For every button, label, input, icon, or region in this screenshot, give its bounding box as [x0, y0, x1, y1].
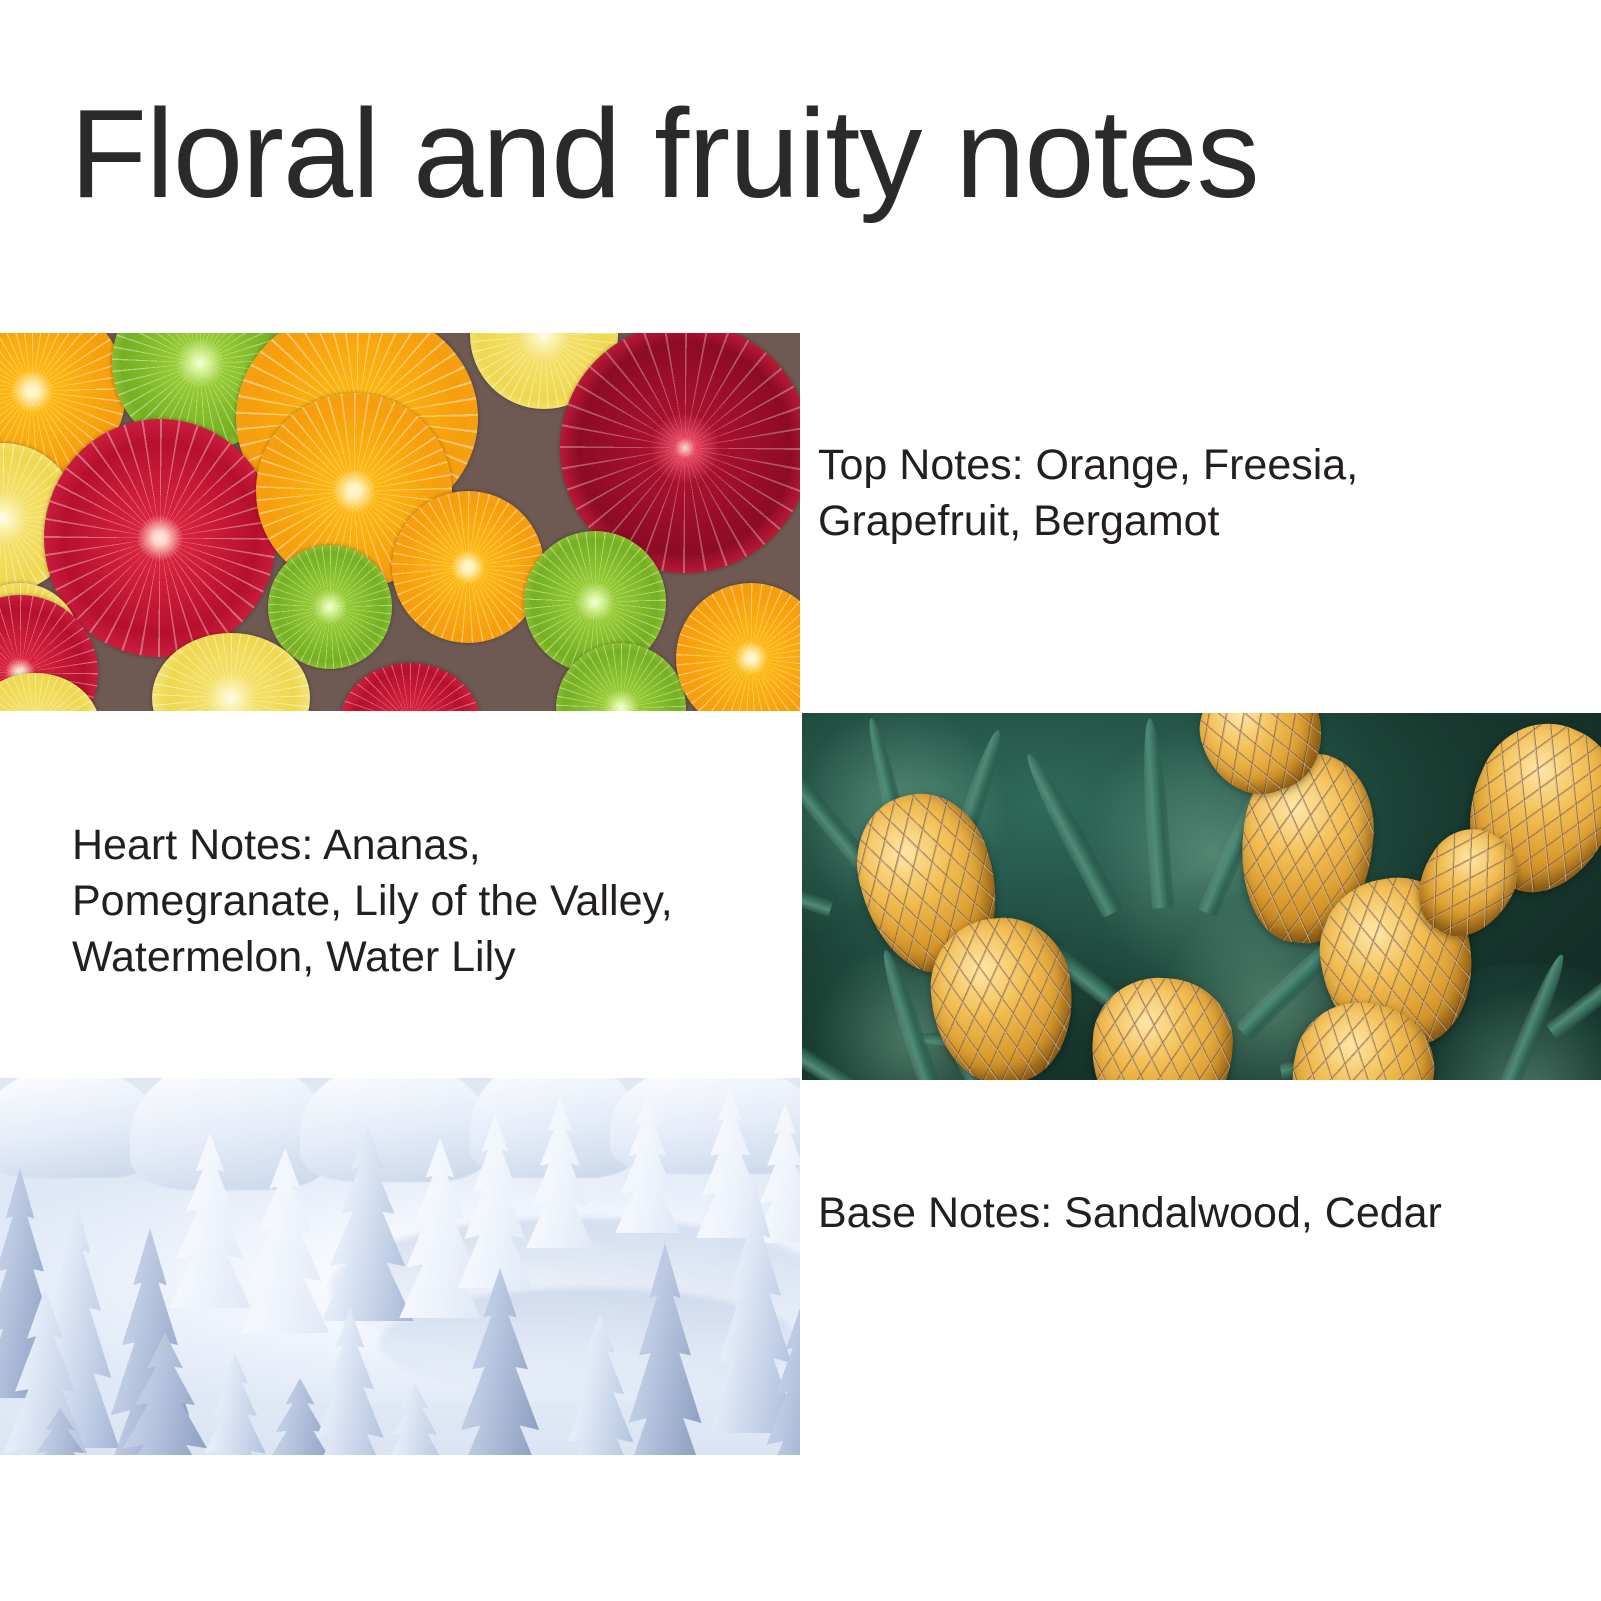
citrus-slices-photo: [0, 333, 800, 711]
pineapples-photo: [802, 713, 1601, 1080]
page-title: Floral and fruity notes: [70, 88, 1259, 220]
base-notes-label: Base Notes: Sandalwood, Cedar: [818, 1186, 1558, 1242]
fruit-slice-lime: [268, 545, 392, 669]
fruit-slice-orange: [392, 491, 544, 643]
top-notes-label: Top Notes: Orange, Freesia, Grapefruit, …: [818, 438, 1538, 550]
slide-canvas: Floral and fruity notes Top Notes: Orang…: [0, 0, 1601, 1601]
heart-notes-label: Heart Notes: Ananas, Pomegranate, Lily o…: [72, 818, 762, 986]
snowy-forest-photo: [0, 1078, 800, 1455]
snow-bush: [300, 1078, 490, 1182]
